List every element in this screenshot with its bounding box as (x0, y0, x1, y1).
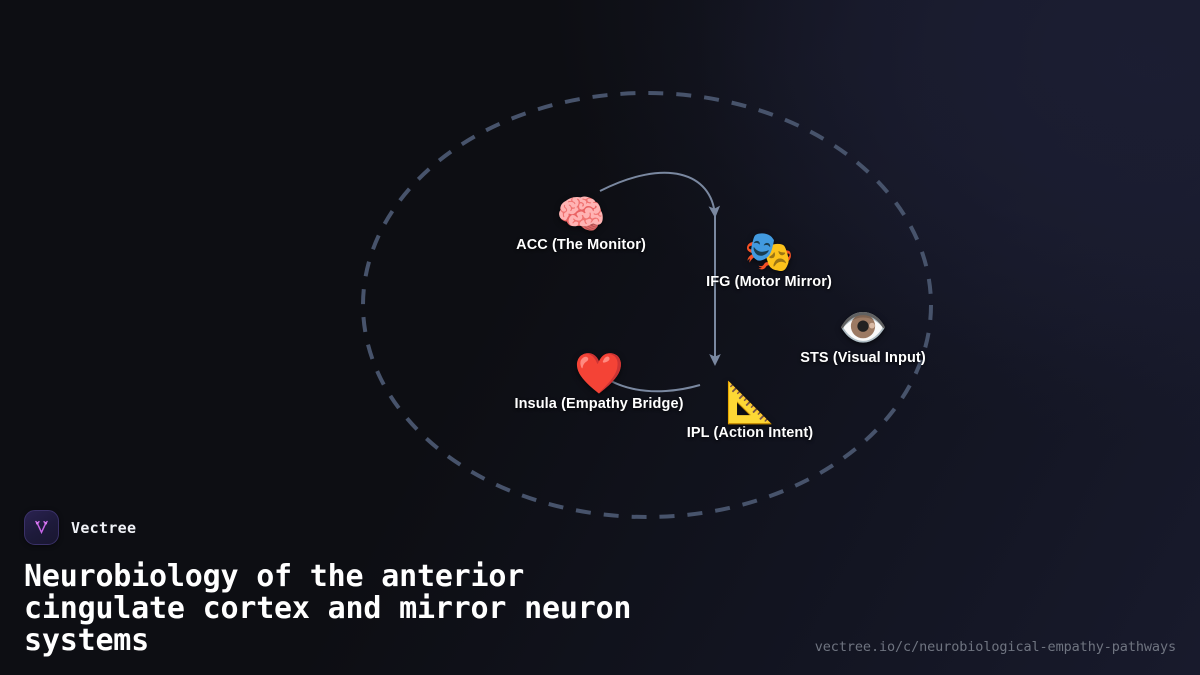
boundary-ellipse (363, 93, 931, 517)
brand-name: Vectree (71, 519, 136, 537)
node-ifg[interactable]: 🎭 IFG (Motor Mirror) (706, 232, 832, 290)
node-label-acc: ACC (The Monitor) (516, 237, 646, 253)
node-insula[interactable]: ❤️ Insula (Empathy Bridge) (514, 354, 683, 412)
performing-arts-masks-icon: 🎭 (744, 232, 794, 272)
card-footer: Vectree Neurobiology of the anterior cin… (0, 510, 1200, 675)
red-heart-icon: ❤️ (574, 354, 624, 394)
node-label-insula: Insula (Empathy Bridge) (514, 396, 683, 412)
source-url: vectree.io/c/neurobiological-empathy-pat… (815, 639, 1176, 655)
node-ipl[interactable]: 📐 IPL (Action Intent) (687, 383, 813, 441)
node-label-ifg: IFG (Motor Mirror) (706, 274, 832, 290)
brand[interactable]: Vectree (24, 510, 1176, 545)
share-card: 🧠 ACC (The Monitor) 🎭 IFG (Motor Mirror)… (0, 0, 1200, 675)
node-sts[interactable]: 👁️ STS (Visual Input) (800, 308, 926, 366)
vectree-v-logo-icon (24, 510, 59, 545)
node-label-sts: STS (Visual Input) (800, 350, 926, 366)
triangular-ruler-icon: 📐 (725, 383, 775, 423)
node-acc[interactable]: 🧠 ACC (The Monitor) (516, 195, 646, 253)
brain-icon: 🧠 (556, 195, 606, 235)
node-label-ipl: IPL (Action Intent) (687, 425, 813, 441)
eye-icon: 👁️ (838, 308, 888, 348)
page-title: Neurobiology of the anterior cingulate c… (24, 561, 804, 657)
